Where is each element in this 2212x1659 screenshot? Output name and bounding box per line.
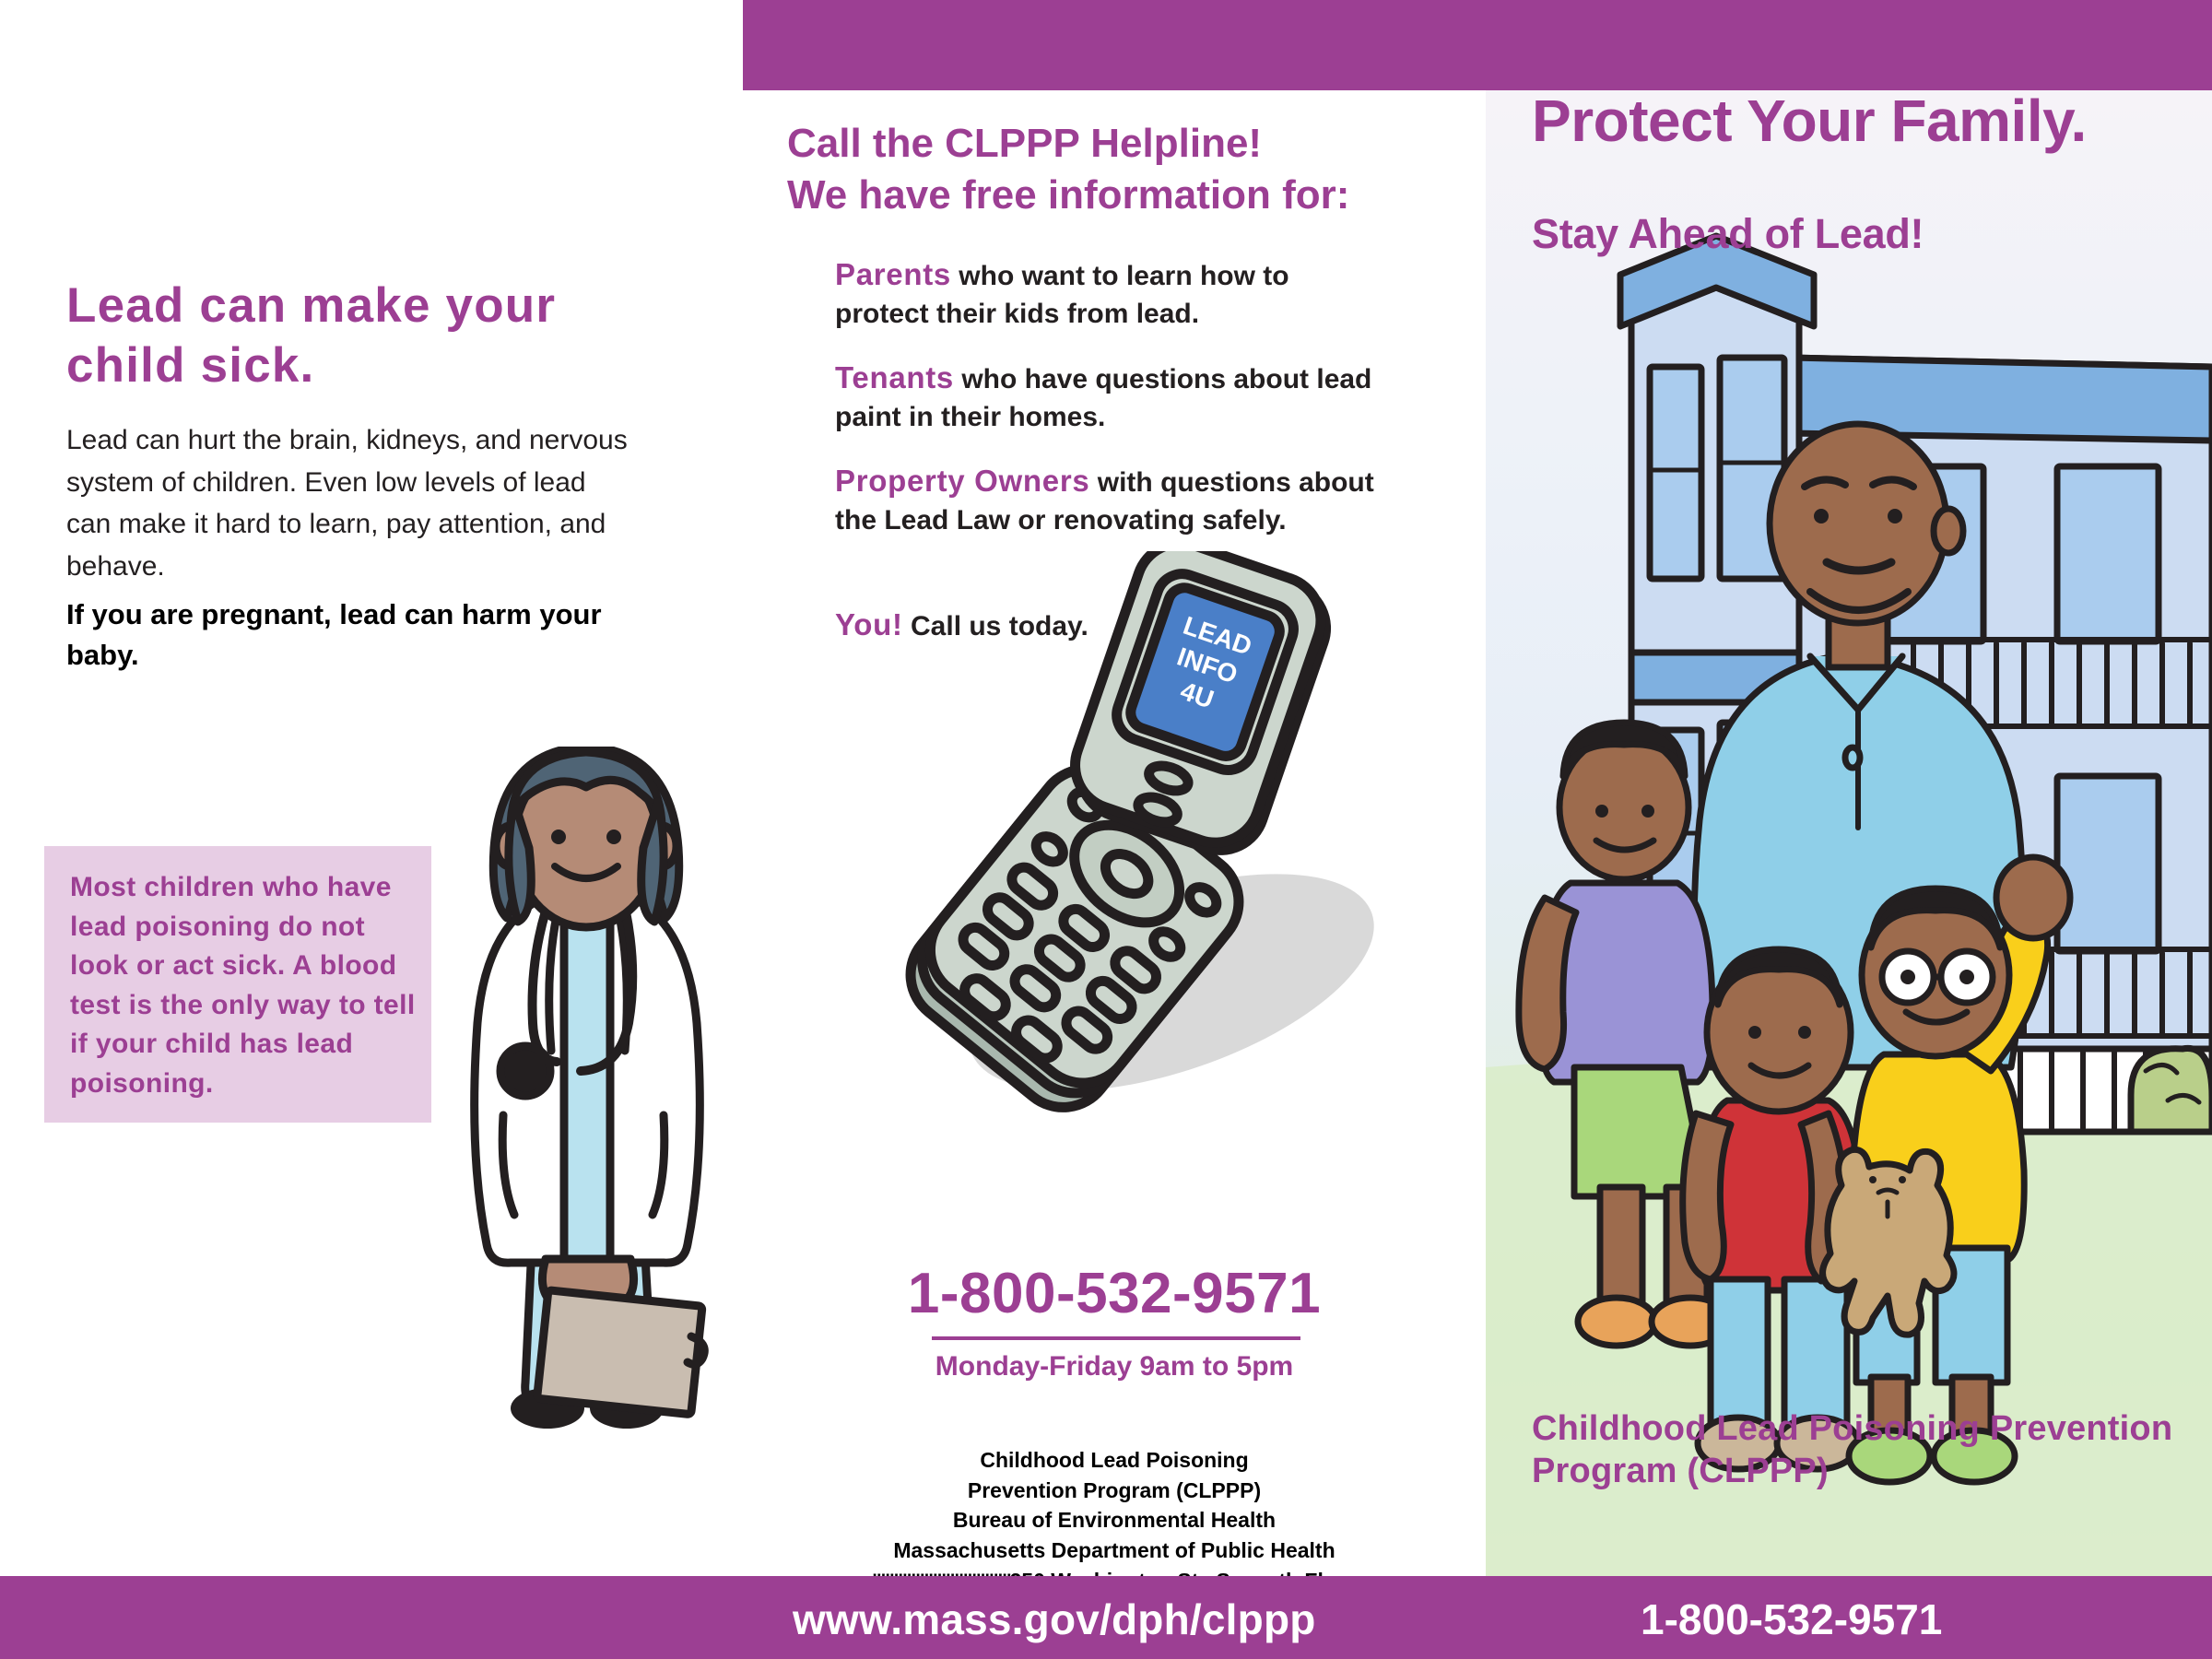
left-panel-body-text: Lead can hurt the brain, kidneys, and ne… — [66, 419, 638, 587]
panel-right-cover: Protect Your Family. Stay Ahead of Lead!… — [1486, 90, 2212, 1576]
phone-underline-rule — [932, 1336, 1300, 1340]
helpline-hours: Monday-Friday 9am to 5pm — [743, 1351, 1486, 1382]
footer-phone-number[interactable]: 1-800-532-9571 — [1641, 1594, 1942, 1644]
flip-cellphone-illustration: LEAD INFO 4U — [798, 551, 1443, 1178]
audience-item-property-owners: Property Owners with questions about the… — [835, 461, 1388, 539]
audience-item-parents: Parents who want to learn how to protect… — [835, 254, 1388, 333]
audience-label-property-owners: Property Owners — [835, 464, 1089, 498]
footer-website-url[interactable]: www.mass.gov/dph/clppp — [793, 1594, 1316, 1644]
address-line-1: Prevention Program (CLPPP) — [743, 1476, 1486, 1506]
bottom-purple-banner: www.mass.gov/dph/clppp 1-800-532-9571 — [0, 1576, 2212, 1659]
panel-middle: Call the CLPPP Helpline! We have free in… — [743, 90, 1486, 1576]
cover-title: Protect Your Family. — [1532, 90, 2195, 152]
blood-test-callout-box: Most children who have lead poisoning do… — [44, 846, 431, 1123]
address-line-2: Bureau of Environmental Health — [743, 1505, 1486, 1535]
audience-item-tenants: Tenants who have questions about lead pa… — [835, 358, 1388, 436]
cover-subtitle: Stay Ahead of Lead! — [1532, 210, 2205, 258]
audience-label-parents: Parents — [835, 257, 951, 291]
helpline-heading-line2: We have free information for: — [787, 172, 1349, 218]
doctor-illustration — [433, 747, 737, 1465]
cover-program-name: Childhood Lead Poisoning Prevention Prog… — [1532, 1408, 2177, 1492]
address-line-0: Childhood Lead Poisoning — [743, 1445, 1486, 1476]
left-panel-pregnancy-note: If you are pregnant, lead can harm your … — [66, 594, 638, 676]
address-line-3: Massachusetts Department of Public Healt… — [743, 1535, 1486, 1566]
family-in-front-of-house-illustration — [1486, 90, 2212, 1576]
helpline-heading-line1: Call the CLPPP Helpline! — [787, 121, 1262, 166]
left-panel-heading: Lead can make your child sick. — [66, 276, 675, 395]
helpline-phone-number[interactable]: 1-800-532-9571 — [743, 1261, 1486, 1326]
helpline-heading: Call the CLPPP Helpline! We have free in… — [787, 118, 1488, 222]
panel-left: Lead can make your child sick. Lead can … — [0, 0, 743, 1576]
blood-test-callout-text: Most children who have lead poisoning do… — [70, 868, 420, 1104]
audience-label-tenants: Tenants — [835, 360, 954, 394]
top-purple-banner — [743, 0, 2212, 90]
